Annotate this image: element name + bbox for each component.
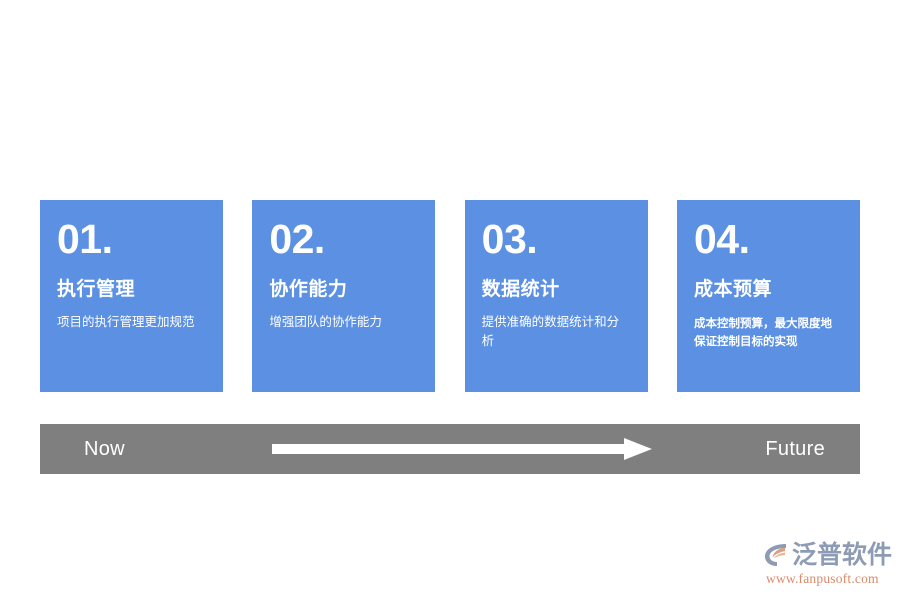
card-number: 02.: [269, 216, 418, 262]
card-description: 增强团队的协作能力: [269, 313, 418, 332]
right-arrow-icon: [272, 438, 652, 460]
card-description: 成本控制预算，最大限度地保证控制目标的实现: [694, 315, 843, 351]
feature-card-row: 01. 执行管理 项目的执行管理更加规范 02. 协作能力 增强团队的协作能力 …: [40, 200, 860, 392]
card-number: 04.: [694, 216, 843, 262]
feature-card-04[interactable]: 04. 成本预算 成本控制预算，最大限度地保证控制目标的实现: [677, 200, 860, 392]
card-title: 数据统计: [482, 278, 631, 302]
card-description: 项目的执行管理更加规范: [57, 313, 206, 332]
fanpu-swoosh-icon: [762, 541, 790, 569]
feature-card-03[interactable]: 03. 数据统计 提供准确的数据统计和分析: [465, 200, 648, 392]
logo-url-text: www.fanpusoft.com: [766, 571, 894, 587]
brand-logo[interactable]: 泛普软件 www.fanpusoft.com: [762, 540, 894, 590]
card-number: 03.: [482, 216, 631, 262]
card-number: 01.: [57, 216, 206, 262]
timeline-end-label: Future: [765, 437, 825, 461]
logo-row: 泛普软件: [762, 540, 894, 570]
logo-brand-text: 泛普软件: [792, 541, 892, 569]
timeline-bar: Now Future: [40, 424, 860, 474]
card-title: 协作能力: [269, 278, 418, 302]
feature-card-02[interactable]: 02. 协作能力 增强团队的协作能力: [252, 200, 435, 392]
slide-canvas: 01. 执行管理 项目的执行管理更加规范 02. 协作能力 增强团队的协作能力 …: [0, 0, 900, 600]
feature-card-01[interactable]: 01. 执行管理 项目的执行管理更加规范: [40, 200, 223, 392]
card-title: 执行管理: [57, 278, 206, 302]
card-title: 成本预算: [694, 278, 843, 302]
card-description: 提供准确的数据统计和分析: [482, 313, 631, 351]
timeline-start-label: Now: [84, 437, 125, 461]
